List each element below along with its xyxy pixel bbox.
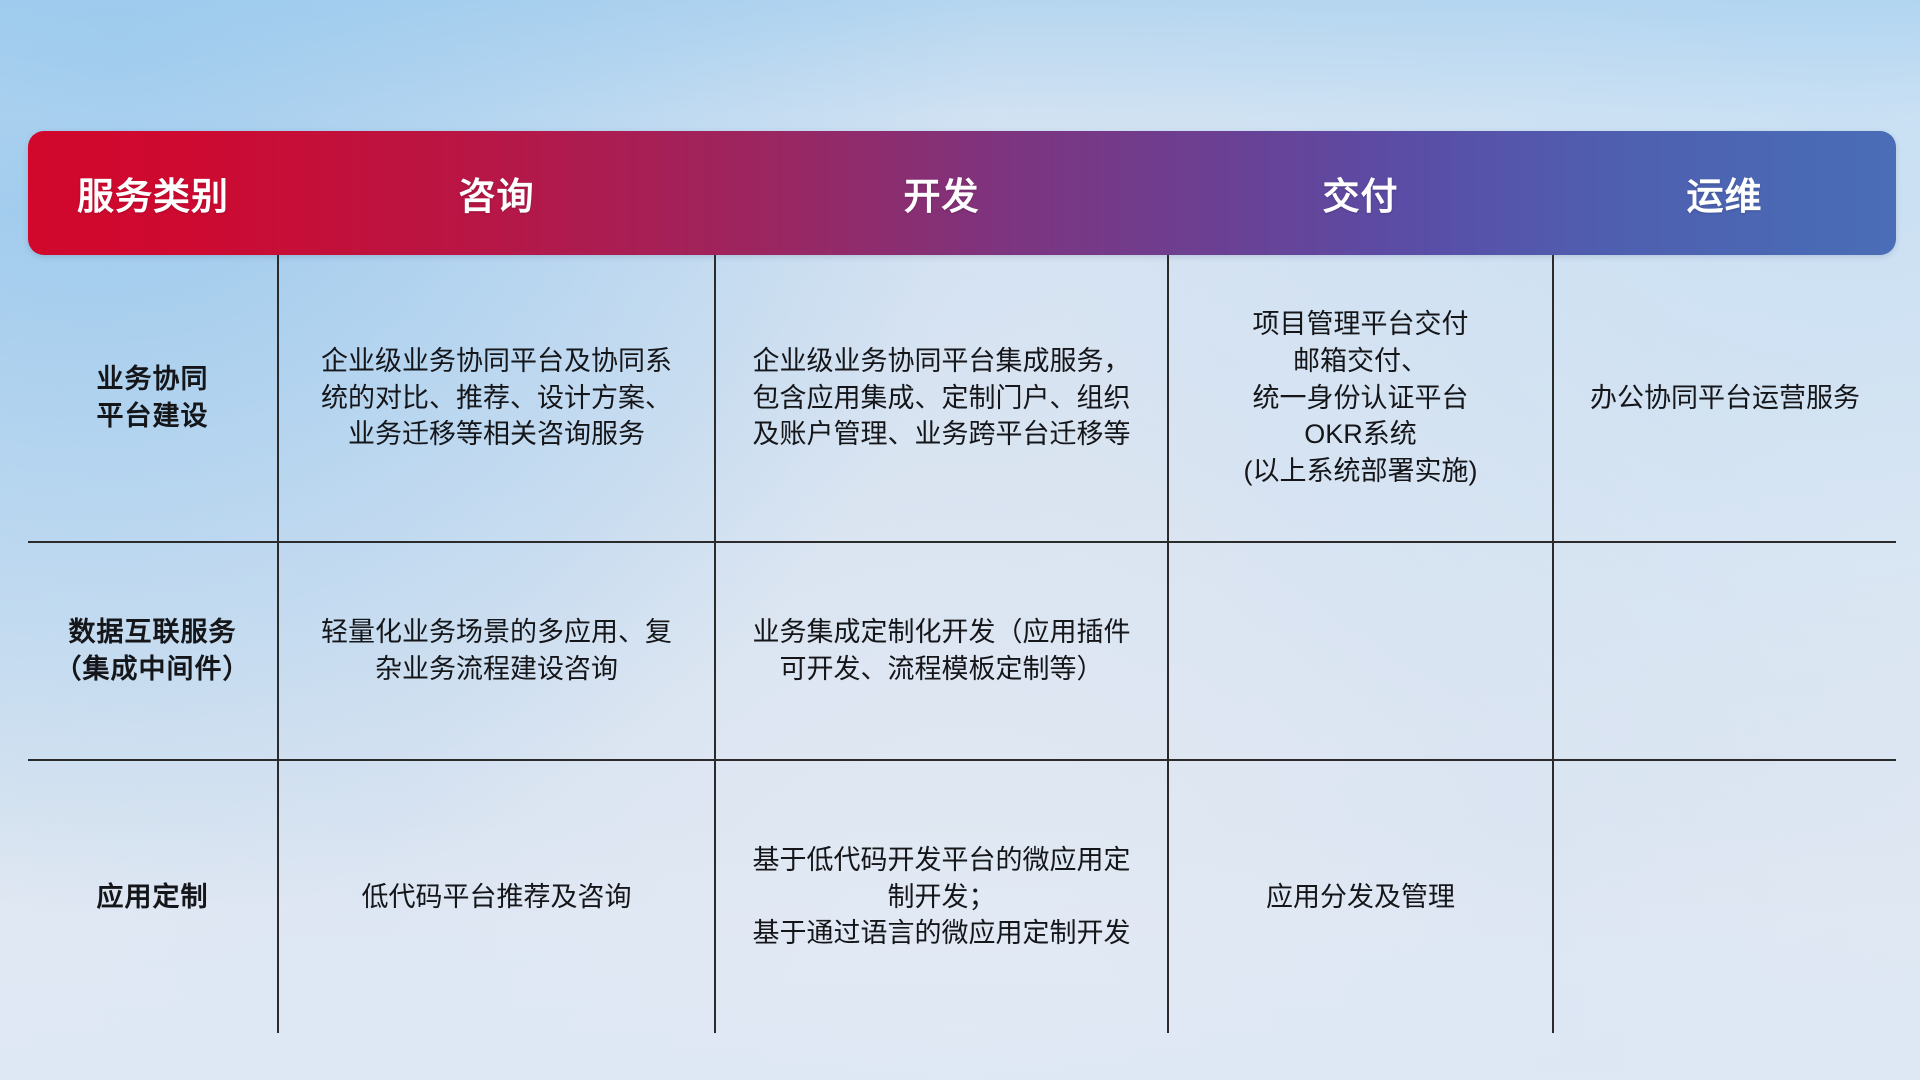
cell-text-line: 轻量化业务场景的多应用、复	[295, 614, 698, 651]
cell-text-line: 基于通过语言的微应用定制开发	[732, 915, 1151, 952]
slide-canvas: 服务类别 咨询 开发 交付 运维	[0, 0, 1920, 1080]
table-header-row: 服务类别 咨询 开发 交付 运维	[28, 131, 1896, 255]
cell-text-line: 杂业务流程建设咨询	[295, 651, 698, 688]
cell-text-line: 制开发；	[732, 879, 1151, 916]
cell-consulting-row2: 轻量化业务场景的多应用、复 杂业务流程建设咨询	[278, 542, 715, 760]
cell-delivery-row2	[1168, 542, 1553, 760]
cell-operations-row3	[1553, 760, 1896, 1033]
cell-text-line: 统一身份认证平台	[1185, 380, 1536, 417]
column-header-label: 开发	[904, 176, 980, 217]
cell-text-line: OKR系统	[1185, 416, 1536, 453]
cell-text-line: 办公协同平台运营服务	[1570, 380, 1880, 417]
cell-text-line: 企业级业务协同平台及协同系	[295, 343, 698, 380]
column-header-consulting: 咨询	[278, 131, 715, 255]
row-category-app-customization: 应用定制	[28, 760, 278, 1033]
cell-development-row1: 企业级业务协同平台集成服务， 包含应用集成、定制门户、组织 及账户管理、业务跨平…	[715, 255, 1168, 542]
column-header-service-category: 服务类别	[28, 131, 278, 255]
category-label-line: 数据互联服务	[44, 614, 261, 651]
row-category-business-collaboration: 业务协同 平台建设	[28, 255, 278, 542]
cell-text-line: 邮箱交付、	[1185, 343, 1536, 380]
cell-text-line: 业务集成定制化开发（应用插件	[732, 614, 1151, 651]
row-category-data-interconnect: 数据互联服务 （集成中间件）	[28, 542, 278, 760]
category-label-line: 应用定制	[44, 879, 261, 916]
cell-development-row3: 基于低代码开发平台的微应用定 制开发； 基于通过语言的微应用定制开发	[715, 760, 1168, 1033]
cell-operations-row2	[1553, 542, 1896, 760]
cell-operations-row1: 办公协同平台运营服务	[1553, 255, 1896, 542]
table-row: 数据互联服务 （集成中间件） 轻量化业务场景的多应用、复 杂业务流程建设咨询 业…	[28, 542, 1896, 760]
cell-text-line: 及账户管理、业务跨平台迁移等	[732, 416, 1151, 453]
cell-text-line: 项目管理平台交付	[1185, 306, 1536, 343]
service-matrix-table: 服务类别 咨询 开发 交付 运维	[28, 131, 1896, 1033]
cell-delivery-row1: 项目管理平台交付 邮箱交付、 统一身份认证平台 OKR系统 (以上系统部署实施)	[1168, 255, 1553, 542]
table-row: 应用定制 低代码平台推荐及咨询 基于低代码开发平台的微应用定 制开发； 基于通过…	[28, 760, 1896, 1033]
cell-text-line: 业务迁移等相关咨询服务	[295, 416, 698, 453]
cell-text-line: 应用分发及管理	[1185, 879, 1536, 916]
cell-text-line: 企业级业务协同平台集成服务，	[732, 343, 1151, 380]
cell-consulting-row1: 企业级业务协同平台及协同系 统的对比、推荐、设计方案、 业务迁移等相关咨询服务	[278, 255, 715, 542]
column-header-operations: 运维	[1553, 131, 1896, 255]
category-label-line: 业务协同	[44, 361, 261, 398]
category-label-line: （集成中间件）	[44, 651, 261, 688]
cell-text-line: 可开发、流程模板定制等）	[732, 651, 1151, 688]
cell-text-line: 低代码平台推荐及咨询	[295, 879, 698, 916]
cell-text-line: 包含应用集成、定制门户、组织	[732, 380, 1151, 417]
column-header-label: 服务类别	[77, 176, 229, 217]
column-header-delivery: 交付	[1168, 131, 1553, 255]
cell-text-line: 基于低代码开发平台的微应用定	[732, 842, 1151, 879]
column-header-label: 运维	[1687, 176, 1763, 217]
cell-text-line: 统的对比、推荐、设计方案、	[295, 380, 698, 417]
cell-development-row2: 业务集成定制化开发（应用插件 可开发、流程模板定制等）	[715, 542, 1168, 760]
category-label-line: 平台建设	[44, 398, 261, 435]
cell-consulting-row3: 低代码平台推荐及咨询	[278, 760, 715, 1033]
cell-text-line: (以上系统部署实施)	[1185, 453, 1536, 490]
cell-delivery-row3: 应用分发及管理	[1168, 760, 1553, 1033]
table-row: 业务协同 平台建设 企业级业务协同平台及协同系 统的对比、推荐、设计方案、 业务…	[28, 255, 1896, 542]
service-matrix: 服务类别 咨询 开发 交付 运维	[28, 131, 1896, 1033]
column-header-label: 交付	[1323, 176, 1399, 217]
column-header-label: 咨询	[459, 176, 535, 217]
column-header-development: 开发	[715, 131, 1168, 255]
